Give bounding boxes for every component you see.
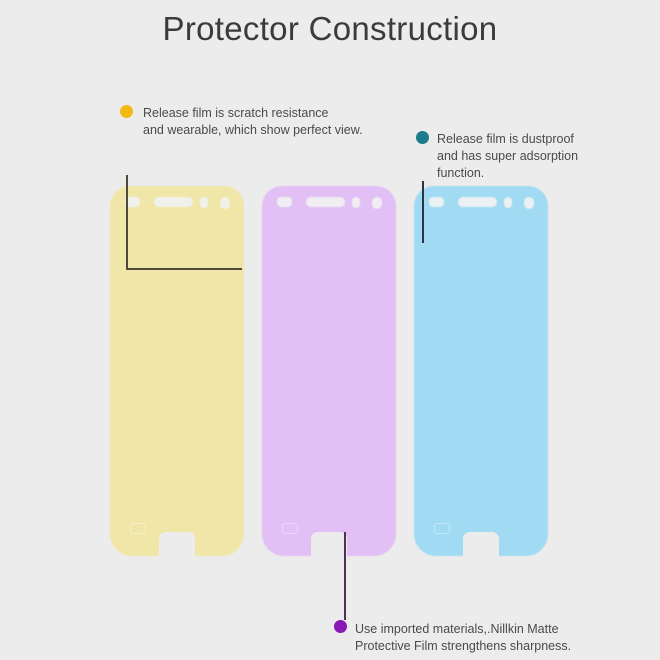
home-button-outline-icon: [434, 523, 450, 534]
annotation-line: function.: [437, 165, 578, 182]
proximity-cutout-icon: [200, 197, 208, 208]
sensor-cutout-icon: [277, 197, 292, 207]
proximity-cutout-icon: [352, 197, 360, 208]
proximity-cutout-icon: [504, 197, 512, 208]
annotation-text-teal: Release film is dustproof and has super …: [437, 131, 578, 182]
protector-construction-diagram: Protector Construction Release film is s…: [0, 0, 660, 660]
page-title: Protector Construction: [0, 10, 660, 48]
product-purple-film: [262, 186, 396, 556]
leader-line-horizontal-yellow: [126, 268, 242, 270]
annotation-line: Release film is scratch resistance: [143, 105, 363, 122]
annotation-line: and wearable, which show perfect view.: [143, 122, 363, 139]
annotation-line: and has super adsorption: [437, 148, 578, 165]
speaker-cutout-icon: [154, 197, 193, 207]
leader-line-vertical-purple: [344, 532, 346, 620]
annotation-line: Release film is dustproof: [437, 131, 578, 148]
product-yellow-film: [110, 186, 244, 556]
home-button-outline-icon: [130, 523, 146, 534]
home-button-notch-icon: [463, 532, 499, 558]
annotation-bullet-teal: [416, 131, 429, 144]
speaker-cutout-icon: [458, 197, 497, 207]
annotation-line: Use imported materials,.Nillkin Matte: [355, 621, 571, 638]
annotation-bullet-yellow: [120, 105, 133, 118]
home-button-notch-icon: [311, 532, 347, 558]
speaker-cutout-icon: [306, 197, 345, 207]
leader-line-vertical-teal: [422, 181, 424, 243]
film-body-blue: [414, 186, 548, 556]
camera-cutout-icon: [524, 197, 534, 209]
leader-line-vertical-yellow: [126, 175, 128, 270]
film-body-purple: [262, 186, 396, 556]
film-body-yellow: [110, 186, 244, 556]
annotation-bullet-purple: [334, 620, 347, 633]
annotation-line: Protective Film strengthens sharpness.: [355, 638, 571, 655]
camera-cutout-icon: [372, 197, 382, 209]
annotation-text-yellow: Release film is scratch resistance and w…: [143, 105, 363, 139]
product-blue-film: [414, 186, 548, 556]
camera-cutout-icon: [220, 197, 230, 209]
annotation-text-purple: Use imported materials,.Nillkin Matte Pr…: [355, 621, 571, 655]
home-button-notch-icon: [159, 532, 195, 558]
home-button-outline-icon: [282, 523, 298, 534]
sensor-cutout-icon: [429, 197, 444, 207]
